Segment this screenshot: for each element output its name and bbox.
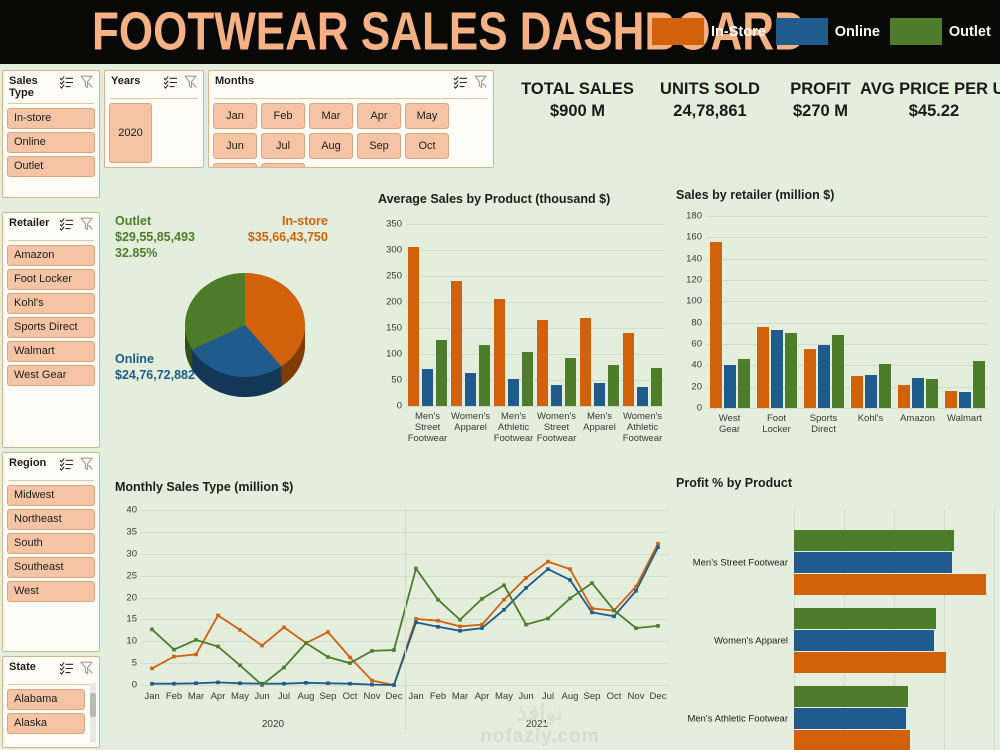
line-marker: [172, 655, 176, 659]
hbar-profit-pct-by-product-2-outlet: [794, 686, 908, 707]
watermark-latin: nofazly.com: [425, 726, 655, 748]
year-divider: [405, 510, 406, 729]
bar-avg-sales-by-product-4-online: [594, 383, 605, 406]
slicer-divider: [8, 480, 94, 481]
bar-sales-by-retailer-4-in-store: [898, 385, 910, 408]
legend-swatch-icon: [652, 18, 704, 45]
line-marker: [568, 578, 572, 582]
y-axis-tick: 180: [686, 211, 702, 222]
line-marker: [194, 681, 198, 685]
slicer-item-sales-type-1[interactable]: Online: [7, 132, 95, 153]
legend-swatch-icon: [776, 18, 828, 45]
kpi-label: PROFIT: [768, 80, 873, 99]
line-marker: [150, 628, 154, 632]
line-marker: [458, 629, 462, 633]
x-axis-label: Jun: [251, 691, 273, 702]
multi-select-icon: [59, 75, 74, 89]
y-axis-tick: 100: [686, 296, 702, 307]
slicer-item-retailer-1[interactable]: Foot Locker: [7, 269, 95, 290]
slicer-header-sales-type: Sales Type: [7, 74, 95, 102]
slicer-title: Region: [9, 457, 46, 469]
clear-filter-icon[interactable]: [80, 217, 93, 236]
y-axis-tick: 20: [691, 381, 702, 392]
gridline: [706, 301, 988, 302]
line-marker: [194, 653, 198, 657]
line-marker: [260, 644, 264, 648]
y-axis-tick: 60: [691, 339, 702, 350]
hbar-profit-pct-by-product-1-outlet: [794, 608, 936, 629]
kpi-value: $45.22: [860, 102, 1000, 121]
bar-sales-by-retailer-4-online: [912, 378, 924, 408]
line-marker: [282, 666, 286, 670]
kpi-avg-price-per-unit: AVG PRICE PER UNIT $45.22: [860, 80, 1000, 121]
bar-avg-sales-by-product-2-in-store: [494, 299, 505, 406]
line-marker: [502, 608, 506, 612]
slicer-item-months-7[interactable]: Aug: [309, 133, 353, 159]
pie-label-outlet-amount: $29,55,85,493: [115, 229, 195, 245]
slicer-item-region-2[interactable]: South: [7, 533, 95, 554]
line-marker: [370, 679, 374, 683]
line-marker: [590, 607, 594, 611]
bar-sales-by-retailer-2-outlet: [832, 335, 844, 408]
line-marker: [502, 583, 506, 587]
x-axis-label: Women'sStreetFootwear: [535, 411, 578, 444]
x-axis-label: Men'sStreetFootwear: [406, 411, 449, 444]
chart-title: Average Sales by Product (thousand $): [378, 192, 610, 206]
legend-item-in-store: In-Store: [652, 18, 766, 45]
slicer-item-months-9[interactable]: Oct: [405, 133, 449, 159]
y-axis-tick: 100: [386, 349, 402, 360]
bar-avg-sales-by-product-4-outlet: [608, 365, 619, 406]
line-marker: [392, 648, 396, 652]
line-marker: [634, 585, 638, 589]
x-axis-label: Mar: [185, 691, 207, 702]
legend-item-outlet: Outlet: [890, 18, 991, 45]
y-axis-tick: 250: [386, 271, 402, 282]
slicer-header-region: Region: [7, 456, 95, 479]
y-axis-tick: 350: [386, 219, 402, 230]
line-marker: [150, 667, 154, 671]
kpi-row: TOTAL SALES $900 M UNITS SOLD 24,78,861 …: [505, 80, 1000, 130]
y-axis-category-label: Men's Athletic Footwear: [680, 714, 788, 725]
bar-avg-sales-by-product-1-online: [465, 373, 476, 406]
slicer-item-state-0[interactable]: Alabama: [7, 689, 85, 710]
line-marker: [238, 681, 242, 685]
legend-label: Outlet: [949, 24, 991, 40]
pie-label-outlet-name: Outlet: [115, 213, 195, 229]
bar-sales-by-retailer-3-outlet: [879, 364, 891, 408]
line-marker: [546, 560, 550, 564]
slicer-divider: [110, 98, 198, 99]
pie-label-outlet: Outlet $29,55,85,493 32.85%: [115, 213, 195, 261]
kpi-value: $270 M: [768, 102, 873, 121]
pie-label-in-store-amount: $35,66,43,750: [210, 229, 328, 245]
slicer-item-months-8[interactable]: Sep: [357, 133, 401, 159]
multi-select-icon[interactable]: [453, 75, 468, 94]
line-marker: [436, 625, 440, 629]
line-marker: [524, 623, 528, 627]
line-marker: [524, 586, 528, 590]
kpi-value: 24,78,861: [645, 102, 775, 121]
slicer-item-months-1[interactable]: Feb: [261, 103, 305, 129]
gridline: [406, 250, 664, 251]
plot-area: 0 5 10 15 20 25 30 35 40 JanFebMarAprMay…: [141, 510, 669, 685]
pie-label-in-store-name: In-store: [282, 213, 328, 229]
x-axis-label: Walmart: [941, 413, 988, 424]
y-axis-tick: 50: [391, 375, 402, 386]
slicer-title: Months: [215, 75, 254, 87]
slicer-item-months-0[interactable]: Jan: [213, 103, 257, 129]
multi-select-icon: [59, 661, 74, 675]
slicer-title: State: [9, 661, 36, 673]
clear-filter-icon: [80, 661, 93, 675]
x-axis-label: Amazon: [894, 413, 941, 424]
x-axis-label: Jan: [405, 691, 427, 702]
slicer-item-state-1[interactable]: Alaska: [7, 713, 85, 734]
bar-avg-sales-by-product-3-outlet: [565, 358, 576, 406]
slicer-item-retailer-4[interactable]: Walmart: [7, 341, 95, 362]
x-axis-label: Women'sApparel: [449, 411, 492, 433]
x-axis-label: Nov: [361, 691, 383, 702]
line-marker: [458, 618, 462, 622]
multi-select-icon: [163, 75, 178, 89]
line-marker: [414, 621, 418, 625]
bar-sales-by-retailer-1-online: [771, 330, 783, 408]
legend-item-online: Online: [776, 18, 880, 45]
watermark-arabic: نوافذ: [425, 700, 655, 726]
line-marker: [216, 645, 220, 649]
chart-avg-sales-by-product: Average Sales by Product (thousand $) 0 …: [378, 192, 668, 482]
pie-label-online-name: Online: [115, 351, 195, 367]
slicer-item-retailer-2[interactable]: Kohl's: [7, 293, 95, 314]
slicer-item-months-2[interactable]: Mar: [309, 103, 353, 129]
x-axis-label: Feb: [163, 691, 185, 702]
kpi-label: AVG PRICE PER UNIT: [860, 80, 1000, 99]
x-axis-label: FootLocker: [753, 413, 800, 435]
line-marker: [546, 617, 550, 621]
pie-label-in-store: In-store $35,66,43,750: [282, 213, 328, 245]
y-axis-tick: 20: [126, 592, 137, 603]
slicer-title: Years: [111, 75, 140, 87]
slicer-divider: [8, 240, 94, 241]
bar-sales-by-retailer-1-outlet: [785, 333, 797, 408]
line-marker: [414, 567, 418, 571]
plot-area: Men's Street FootwearWomen's ApparelMen'…: [794, 510, 994, 750]
y-axis-tick: 0: [697, 403, 702, 414]
line-marker: [326, 655, 330, 659]
y-axis-tick: 300: [386, 245, 402, 256]
slicer-item-retailer-5[interactable]: West Gear: [7, 365, 95, 386]
clear-filter-icon[interactable]: [80, 661, 93, 680]
multi-select-icon: [453, 75, 468, 89]
line-marker: [458, 625, 462, 629]
slicer-item-retailer-3[interactable]: Sports Direct: [7, 317, 95, 338]
slicer-state[interactable]: State AlabamaAlaska: [2, 656, 100, 748]
gridline: [706, 408, 988, 409]
clear-filter-icon: [184, 75, 197, 89]
plot-area: 0 50 100 150 200 250 300 350 Men'sStreet…: [406, 224, 664, 406]
bar-sales-by-retailer-5-outlet: [973, 361, 985, 408]
gridline: [406, 224, 664, 225]
x-axis-label: May: [229, 691, 251, 702]
line-marker: [612, 608, 616, 612]
line-marker: [590, 581, 594, 585]
line-marker: [634, 589, 638, 593]
line-marker: [436, 619, 440, 623]
slicer-item-months-5[interactable]: Jun: [213, 133, 257, 159]
slicer-item-region-0[interactable]: Midwest: [7, 485, 95, 506]
pie-label-outlet-pct: 32.85%: [115, 245, 195, 261]
y-axis-tick: 140: [686, 253, 702, 264]
watermark: نوافذ nofazly.com: [425, 700, 655, 748]
gridline: [706, 237, 988, 238]
slicer-retailer[interactable]: Retailer AmazonFoot LockerKohl'sSports D…: [2, 212, 100, 448]
line-marker: [194, 638, 198, 642]
bar-avg-sales-by-product-5-in-store: [623, 333, 634, 406]
kpi-profit: PROFIT $270 M: [768, 80, 873, 121]
slicer-sales-type[interactable]: Sales Type In-storeOnlineOutlet: [2, 70, 100, 198]
legend: In-Store Online Outlet: [652, 18, 991, 45]
slicer-header-retailer: Retailer: [7, 216, 95, 239]
kpi-label: UNITS SOLD: [645, 80, 775, 99]
chart-title: Profit % by Product: [676, 476, 792, 490]
line-marker: [304, 641, 308, 645]
x-axis-label: Apr: [207, 691, 229, 702]
line-marker: [304, 681, 308, 685]
x-axis-label: Kohl's: [847, 413, 894, 424]
slicer-title: Retailer: [9, 217, 49, 229]
line-marker: [260, 683, 264, 687]
line-marker: [348, 682, 352, 686]
slicer-years[interactable]: Years 20202021: [104, 70, 204, 168]
slicer-item-months-6[interactable]: Jul: [261, 133, 305, 159]
y-axis-tick: 160: [686, 232, 702, 243]
y-axis-tick: 0: [397, 401, 402, 412]
x-axis-label: WestGear: [706, 413, 753, 435]
line-marker: [216, 681, 220, 685]
slicer-item-months-3[interactable]: Apr: [357, 103, 401, 129]
slicer-item-months-4[interactable]: May: [405, 103, 449, 129]
line-marker: [590, 611, 594, 615]
bar-avg-sales-by-product-1-in-store: [451, 281, 462, 406]
kpi-value: $900 M: [505, 102, 650, 121]
line-marker: [370, 649, 374, 653]
line-marker: [282, 626, 286, 630]
bar-sales-by-retailer-5-online: [959, 392, 971, 408]
y-axis-tick: 35: [126, 526, 137, 537]
gridline: [706, 280, 988, 281]
x-axis-label: Men'sAthleticFootwear: [492, 411, 535, 444]
gridline: [706, 323, 988, 324]
y-axis-tick: 10: [126, 636, 137, 647]
line-marker: [524, 576, 528, 580]
y-axis-tick: 30: [126, 548, 137, 559]
line-marker: [634, 626, 638, 630]
line-marker: [414, 617, 418, 621]
clear-filter-icon[interactable]: [184, 75, 197, 94]
x-axis-label: Dec: [383, 691, 405, 702]
line-marker: [282, 682, 286, 686]
y-axis-tick: 0: [132, 680, 137, 691]
hbar-profit-pct-by-product-1-in-store: [794, 652, 946, 673]
x-axis-label: Men'sApparel: [578, 411, 621, 433]
line-marker: [546, 567, 550, 571]
gridline: [706, 216, 988, 217]
slicer-item-sales-type-0[interactable]: In-store: [7, 108, 95, 129]
bar-avg-sales-by-product-5-online: [637, 387, 648, 406]
line-marker: [436, 598, 440, 602]
chart-profit-pct-by-product: Profit % by Product Men's Street Footwea…: [676, 476, 1000, 750]
line-marker: [326, 630, 330, 634]
slicer-item-months-10[interactable]: Nov: [213, 163, 257, 168]
hbar-profit-pct-by-product-0-online: [794, 552, 952, 573]
line-marker: [150, 682, 154, 686]
clear-filter-icon: [80, 75, 93, 89]
pie-label-online-amount: $24,76,72,882: [115, 367, 195, 383]
bar-sales-by-retailer-0-outlet: [738, 359, 750, 408]
bar-sales-by-retailer-3-online: [865, 375, 877, 408]
kpi-total-sales: TOTAL SALES $900 M: [505, 80, 650, 121]
slicer-item-region-1[interactable]: Northeast: [7, 509, 95, 530]
gridline: [406, 406, 664, 407]
clear-filter-icon[interactable]: [80, 75, 93, 94]
slicer-item-months-11[interactable]: Dec: [261, 163, 305, 168]
gridline: [406, 328, 664, 329]
bar-sales-by-retailer-5-in-store: [945, 391, 957, 408]
line-marker: [568, 597, 572, 601]
slicer-divider: [8, 103, 94, 104]
multi-select-icon[interactable]: [59, 457, 74, 476]
slicer-header-years: Years: [109, 74, 199, 97]
line-marker: [238, 664, 242, 668]
multi-select-icon[interactable]: [163, 75, 178, 94]
line-marker: [172, 648, 176, 652]
bar-sales-by-retailer-2-in-store: [804, 349, 816, 408]
line-marker: [656, 545, 660, 549]
x-axis-group-label: 2020: [141, 719, 405, 730]
bar-sales-by-retailer-4-outlet: [926, 379, 938, 408]
gridline: [406, 302, 664, 303]
hbar-profit-pct-by-product-1-online: [794, 630, 934, 651]
line-marker: [348, 661, 352, 665]
chart-sales-by-retailer: Sales by retailer (million $) 0 20 40 60…: [676, 188, 996, 453]
line-marker: [480, 623, 484, 627]
slicer-title: Sales Type: [9, 75, 59, 99]
x-axis-label: Jul: [273, 691, 295, 702]
multi-select-icon: [59, 457, 74, 471]
bar-sales-by-retailer-2-online: [818, 345, 830, 408]
kpi-units-sold: UNITS SOLD 24,78,861: [645, 80, 775, 121]
bar-sales-by-retailer-1-in-store: [757, 327, 769, 408]
chart-title: Sales by retailer (million $): [676, 188, 834, 202]
y-axis-tick: 5: [132, 658, 137, 669]
hbar-profit-pct-by-product-2-online: [794, 708, 906, 729]
bar-sales-by-retailer-0-in-store: [710, 242, 722, 408]
line-marker: [502, 598, 506, 602]
line-marker: [480, 597, 484, 601]
gridline: [706, 344, 988, 345]
y-axis-tick: 200: [386, 297, 402, 308]
slicer-item-retailer-0[interactable]: Amazon: [7, 245, 95, 266]
bar-avg-sales-by-product-3-in-store: [537, 320, 548, 406]
legend-swatch-icon: [890, 18, 942, 45]
hbar-profit-pct-by-product-2-in-store: [794, 730, 910, 750]
x-axis-label: Sep: [317, 691, 339, 702]
pie-label-online: Online $24,76,72,882: [115, 351, 195, 383]
x-axis-label: Aug: [295, 691, 317, 702]
gridline: [994, 510, 995, 750]
kpi-label: TOTAL SALES: [505, 80, 650, 99]
y-axis-tick: 40: [126, 505, 137, 516]
bar-avg-sales-by-product-1-outlet: [479, 345, 490, 406]
y-axis-tick: 40: [691, 360, 702, 371]
chart-sales-type-pie: Outlet $29,55,85,493 32.85% Online $24,7…: [105, 185, 380, 425]
slicer-scrollbar-thumb-state[interactable]: [90, 693, 96, 717]
clear-filter-icon: [474, 75, 487, 89]
bar-avg-sales-by-product-4-in-store: [580, 318, 591, 406]
legend-label: Online: [835, 24, 880, 40]
bar-avg-sales-by-product-3-online: [551, 385, 562, 406]
line-marker: [392, 683, 396, 687]
line-marker: [568, 567, 572, 571]
y-axis-tick: 80: [691, 317, 702, 328]
multi-select-icon[interactable]: [59, 217, 74, 236]
hbar-profit-pct-by-product-0-outlet: [794, 530, 954, 551]
line-marker: [480, 626, 484, 630]
line-marker: [216, 614, 220, 618]
slicer-header-months: Months: [213, 74, 489, 97]
bar-avg-sales-by-product-0-outlet: [436, 340, 447, 406]
legend-label: In-Store: [711, 24, 766, 40]
y-axis-category-label: Men's Street Footwear: [680, 558, 788, 569]
line-marker: [370, 683, 374, 687]
dashboard-root: FOOTWEAR SALES DASHBOARD In-Store Online…: [0, 0, 1000, 750]
bar-sales-by-retailer-3-in-store: [851, 376, 863, 408]
x-axis-label: Oct: [339, 691, 361, 702]
slicer-divider: [214, 98, 488, 99]
slicer-item-region-4[interactable]: West: [7, 581, 95, 602]
line-marker: [172, 682, 176, 686]
slicer-item-sales-type-2[interactable]: Outlet: [7, 156, 95, 177]
slicer-months[interactable]: Months JanFebMarAprMayJunJulAugSepOctNov…: [208, 70, 494, 168]
slicer-item-years-0[interactable]: 2020: [109, 103, 152, 163]
clear-filter-icon[interactable]: [474, 75, 487, 94]
multi-select-icon[interactable]: [59, 75, 74, 94]
bar-avg-sales-by-product-0-online: [422, 369, 433, 406]
plot-area: 0 20 40 60 80 100 120 140 160 180 WestGe…: [706, 216, 988, 408]
gridline: [706, 259, 988, 260]
bar-sales-by-retailer-0-online: [724, 365, 736, 408]
clear-filter-icon[interactable]: [80, 457, 93, 476]
multi-select-icon[interactable]: [59, 661, 74, 680]
clear-filter-icon: [80, 457, 93, 471]
line-marker: [612, 615, 616, 619]
slicer-region[interactable]: Region MidwestNortheastSouthSoutheastWes…: [2, 452, 100, 652]
line-marker: [326, 681, 330, 685]
gridline: [406, 276, 664, 277]
slicer-divider: [8, 684, 94, 685]
y-axis-category-label: Women's Apparel: [680, 636, 788, 647]
chart-title: Monthly Sales Type (million $): [115, 480, 293, 494]
y-axis-tick: 120: [686, 275, 702, 286]
slicer-item-region-3[interactable]: Southeast: [7, 557, 95, 578]
line-marker: [238, 628, 242, 632]
clear-filter-icon: [80, 217, 93, 231]
line-marker: [656, 624, 660, 628]
bar-avg-sales-by-product-0-in-store: [408, 247, 419, 406]
bar-avg-sales-by-product-5-outlet: [651, 368, 662, 406]
x-axis-label: Women'sAthleticFootwear: [621, 411, 664, 444]
